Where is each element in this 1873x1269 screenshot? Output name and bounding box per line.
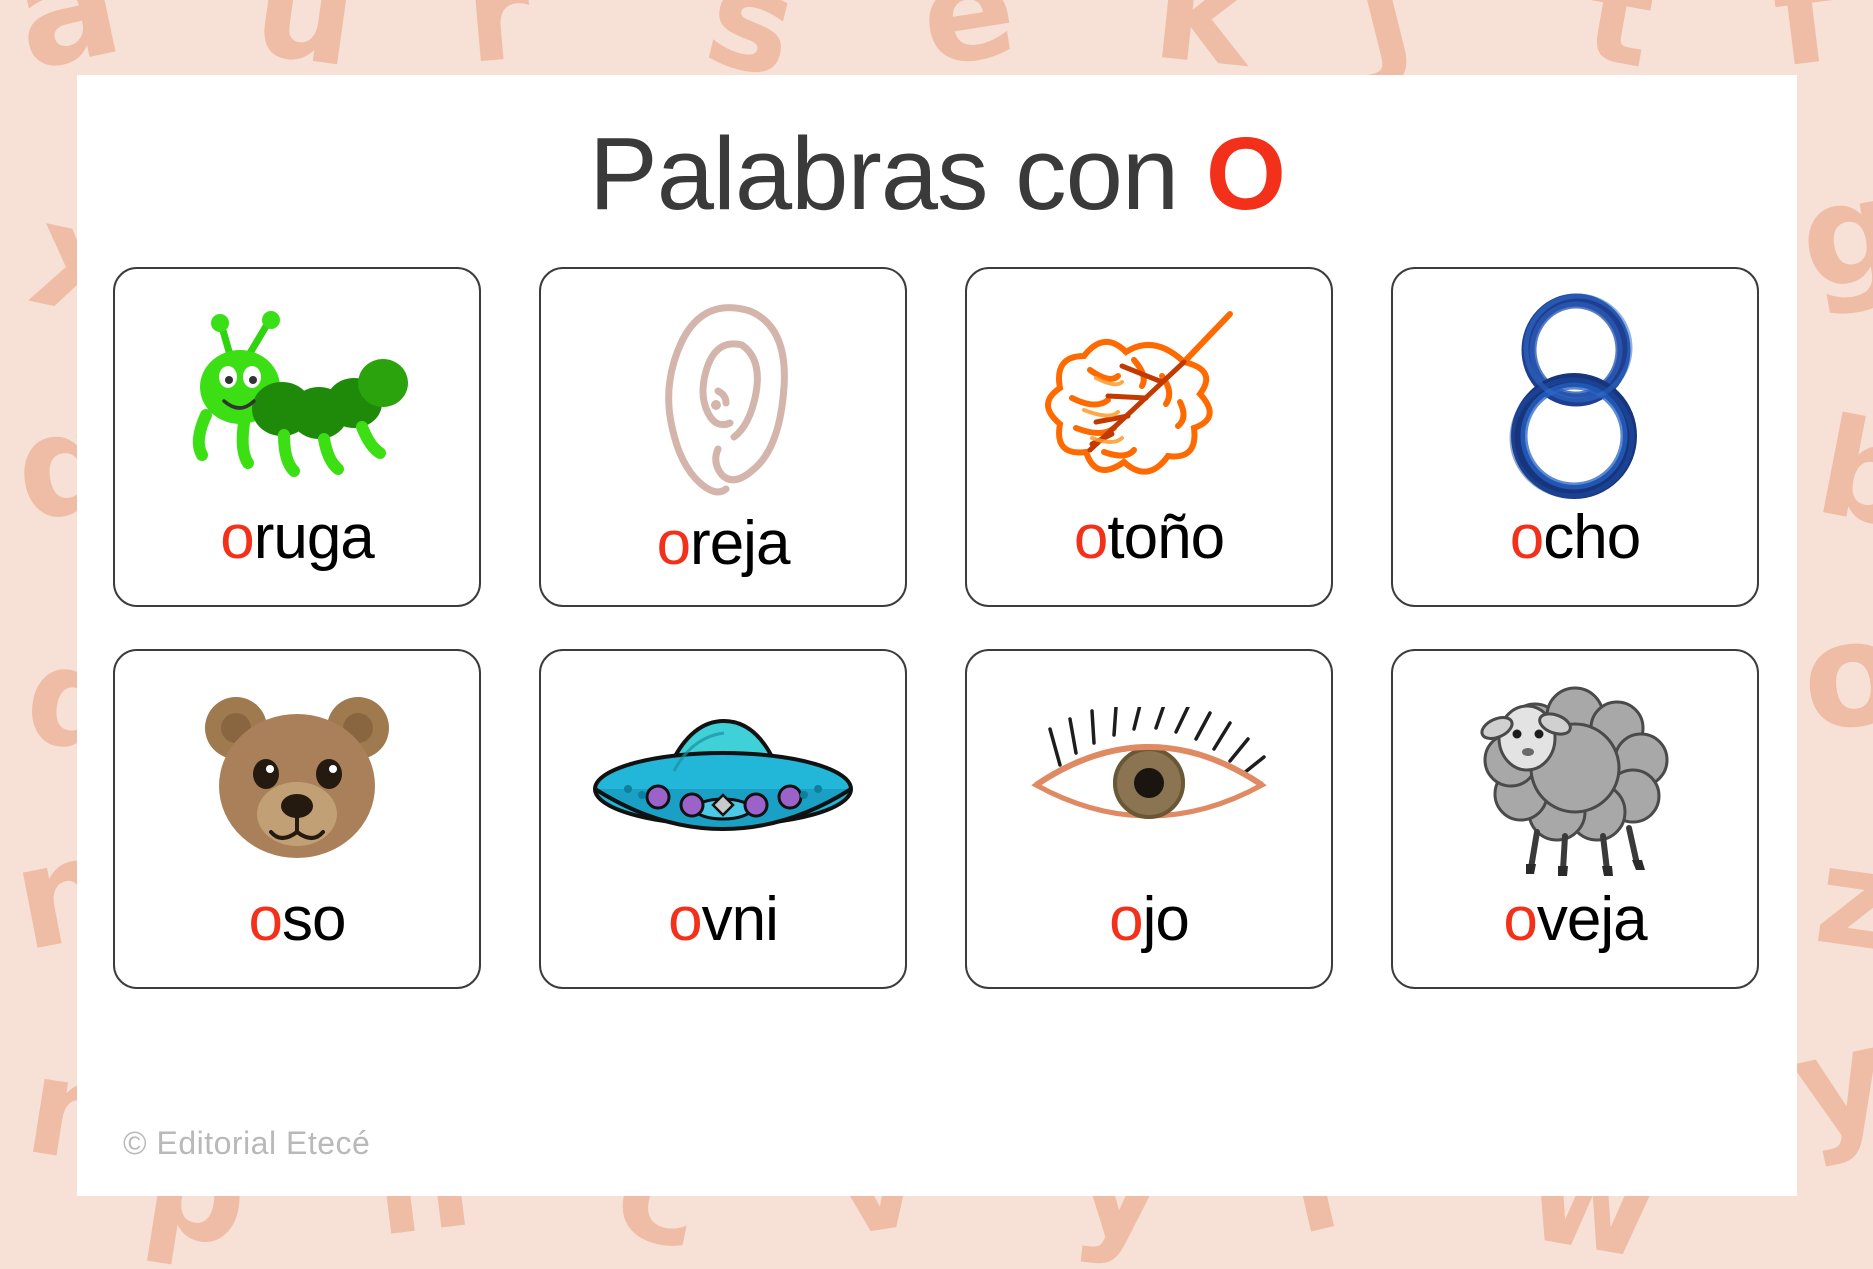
word-card-oso[interactable]: oso [113, 649, 481, 989]
autumn-leaf-drawing [967, 269, 1331, 507]
word-card-ovni[interactable]: ovni [539, 649, 907, 989]
word-initial-letter: o [1510, 503, 1543, 572]
ear-drawing [541, 269, 905, 513]
word-initial-letter: o [657, 509, 690, 578]
word-remainder: so [282, 885, 345, 954]
caterpillar-drawing [115, 269, 479, 507]
word-card-label: oruga [220, 507, 374, 605]
word-card-label: ovni [668, 889, 778, 987]
ufo-drawing [541, 651, 905, 889]
word-remainder: ruga [254, 503, 374, 572]
word-card-oveja[interactable]: oveja [1391, 649, 1759, 989]
background-letter: o [1794, 586, 1873, 764]
word-card-oreja[interactable]: oreja [539, 267, 907, 607]
background-letter: b [1806, 387, 1873, 560]
word-card-label: oreja [657, 513, 790, 607]
word-initial-letter: o [668, 885, 701, 954]
word-card-label: ocho [1510, 507, 1640, 605]
word-remainder: vni [702, 885, 778, 954]
word-card-label: oveja [1503, 889, 1646, 987]
word-card-label: otoño [1074, 507, 1224, 605]
word-card-otoño[interactable]: otoño [965, 267, 1333, 607]
word-initial-letter: o [220, 503, 253, 572]
word-initial-letter: o [1503, 885, 1536, 954]
word-card-ocho[interactable]: ocho [1391, 267, 1759, 607]
word-card-grid: oruga oreja [113, 267, 1761, 989]
number-eight-drawing [1393, 269, 1757, 507]
copyright-footer: © Editorial Etecé [123, 1125, 370, 1162]
background-letter: z [1808, 816, 1873, 982]
poster-sheet: Palabras con O oruga [77, 75, 1797, 1196]
eye-drawing [967, 651, 1331, 889]
word-remainder: cho [1543, 503, 1640, 572]
word-initial-letter: o [249, 885, 282, 954]
word-card-oruga[interactable]: oruga [113, 267, 481, 607]
background-letter: g [1788, 146, 1873, 324]
page-title-text: Palabras con [589, 116, 1178, 231]
word-remainder: toño [1107, 503, 1224, 572]
bear-drawing [115, 651, 479, 889]
page-title: Palabras con O [77, 115, 1797, 233]
word-remainder: veja [1537, 885, 1647, 954]
word-card-label: oso [249, 889, 346, 987]
sheep-drawing [1393, 651, 1757, 889]
word-remainder: jo [1143, 885, 1189, 954]
word-initial-letter: o [1074, 503, 1107, 572]
word-initial-letter: o [1109, 885, 1142, 954]
page-title-accent-letter: O [1206, 116, 1285, 231]
word-card-ojo[interactable]: ojo [965, 649, 1333, 989]
word-remainder: reja [690, 509, 789, 578]
word-card-label: ojo [1109, 889, 1189, 987]
